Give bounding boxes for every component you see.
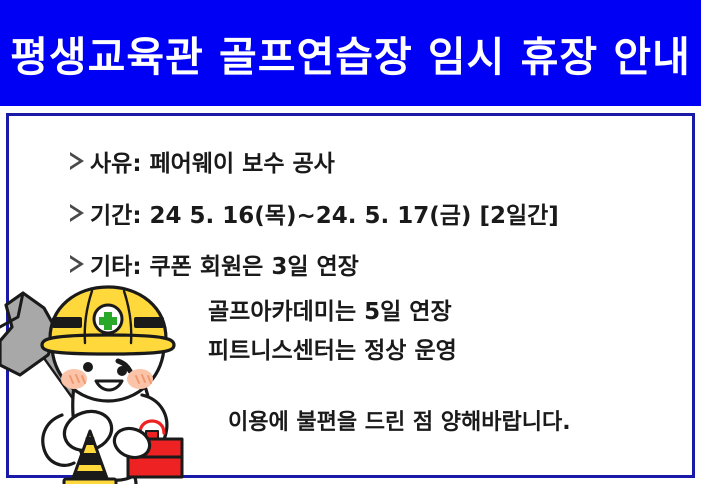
notice-line-reason: 사유: 페어웨이 보수 공사 bbox=[70, 144, 335, 178]
traffic-cone-stripe-top bbox=[84, 437, 96, 445]
page-title: 평생교육관 골프연습장 임시 휴장 안내 bbox=[10, 23, 691, 83]
notice-line-reason-text: 사유: 페어웨이 보수 공사 bbox=[90, 144, 335, 178]
helmet-brim bbox=[42, 335, 174, 354]
notice-line-etc: 기타: 쿠폰 회원은 3일 연장 bbox=[70, 247, 359, 281]
helmet-vent-right bbox=[134, 317, 164, 328]
mascot-eye-left bbox=[83, 362, 93, 372]
triangle-bullet-icon bbox=[70, 255, 84, 273]
notice-closing-text: 이용에 불편을 드린 점 양해바랍니다. bbox=[228, 404, 571, 436]
notice-subline-academy: 골프아카데미는 5일 연장 bbox=[208, 292, 452, 326]
notice-poster: 평생교육관 골프연습장 임시 휴장 안내 사유: 페어웨이 보수 공사 기간: … bbox=[0, 0, 701, 484]
triangle-bullet-icon bbox=[70, 204, 84, 222]
title-banner: 평생교육관 골프연습장 임시 휴장 안내 bbox=[0, 0, 701, 106]
construction-mascot-illustration bbox=[0, 283, 215, 484]
notice-subline-fitness: 피트니스센터는 정상 운영 bbox=[208, 331, 457, 365]
triangle-bullet-icon bbox=[70, 152, 84, 170]
traffic-cone-base bbox=[64, 479, 116, 484]
mascot-eye-right-dot bbox=[117, 366, 127, 376]
helmet-vent-left bbox=[52, 317, 82, 328]
notice-line-period-text: 기간: 24 5. 16(목)~24. 5. 17(금) [2일간] bbox=[90, 196, 559, 230]
notice-line-etc-text: 기타: 쿠폰 회원은 3일 연장 bbox=[90, 247, 359, 281]
notice-line-period: 기간: 24 5. 16(목)~24. 5. 17(금) [2일간] bbox=[70, 196, 559, 230]
traffic-cone-stripe-upper bbox=[79, 453, 101, 465]
